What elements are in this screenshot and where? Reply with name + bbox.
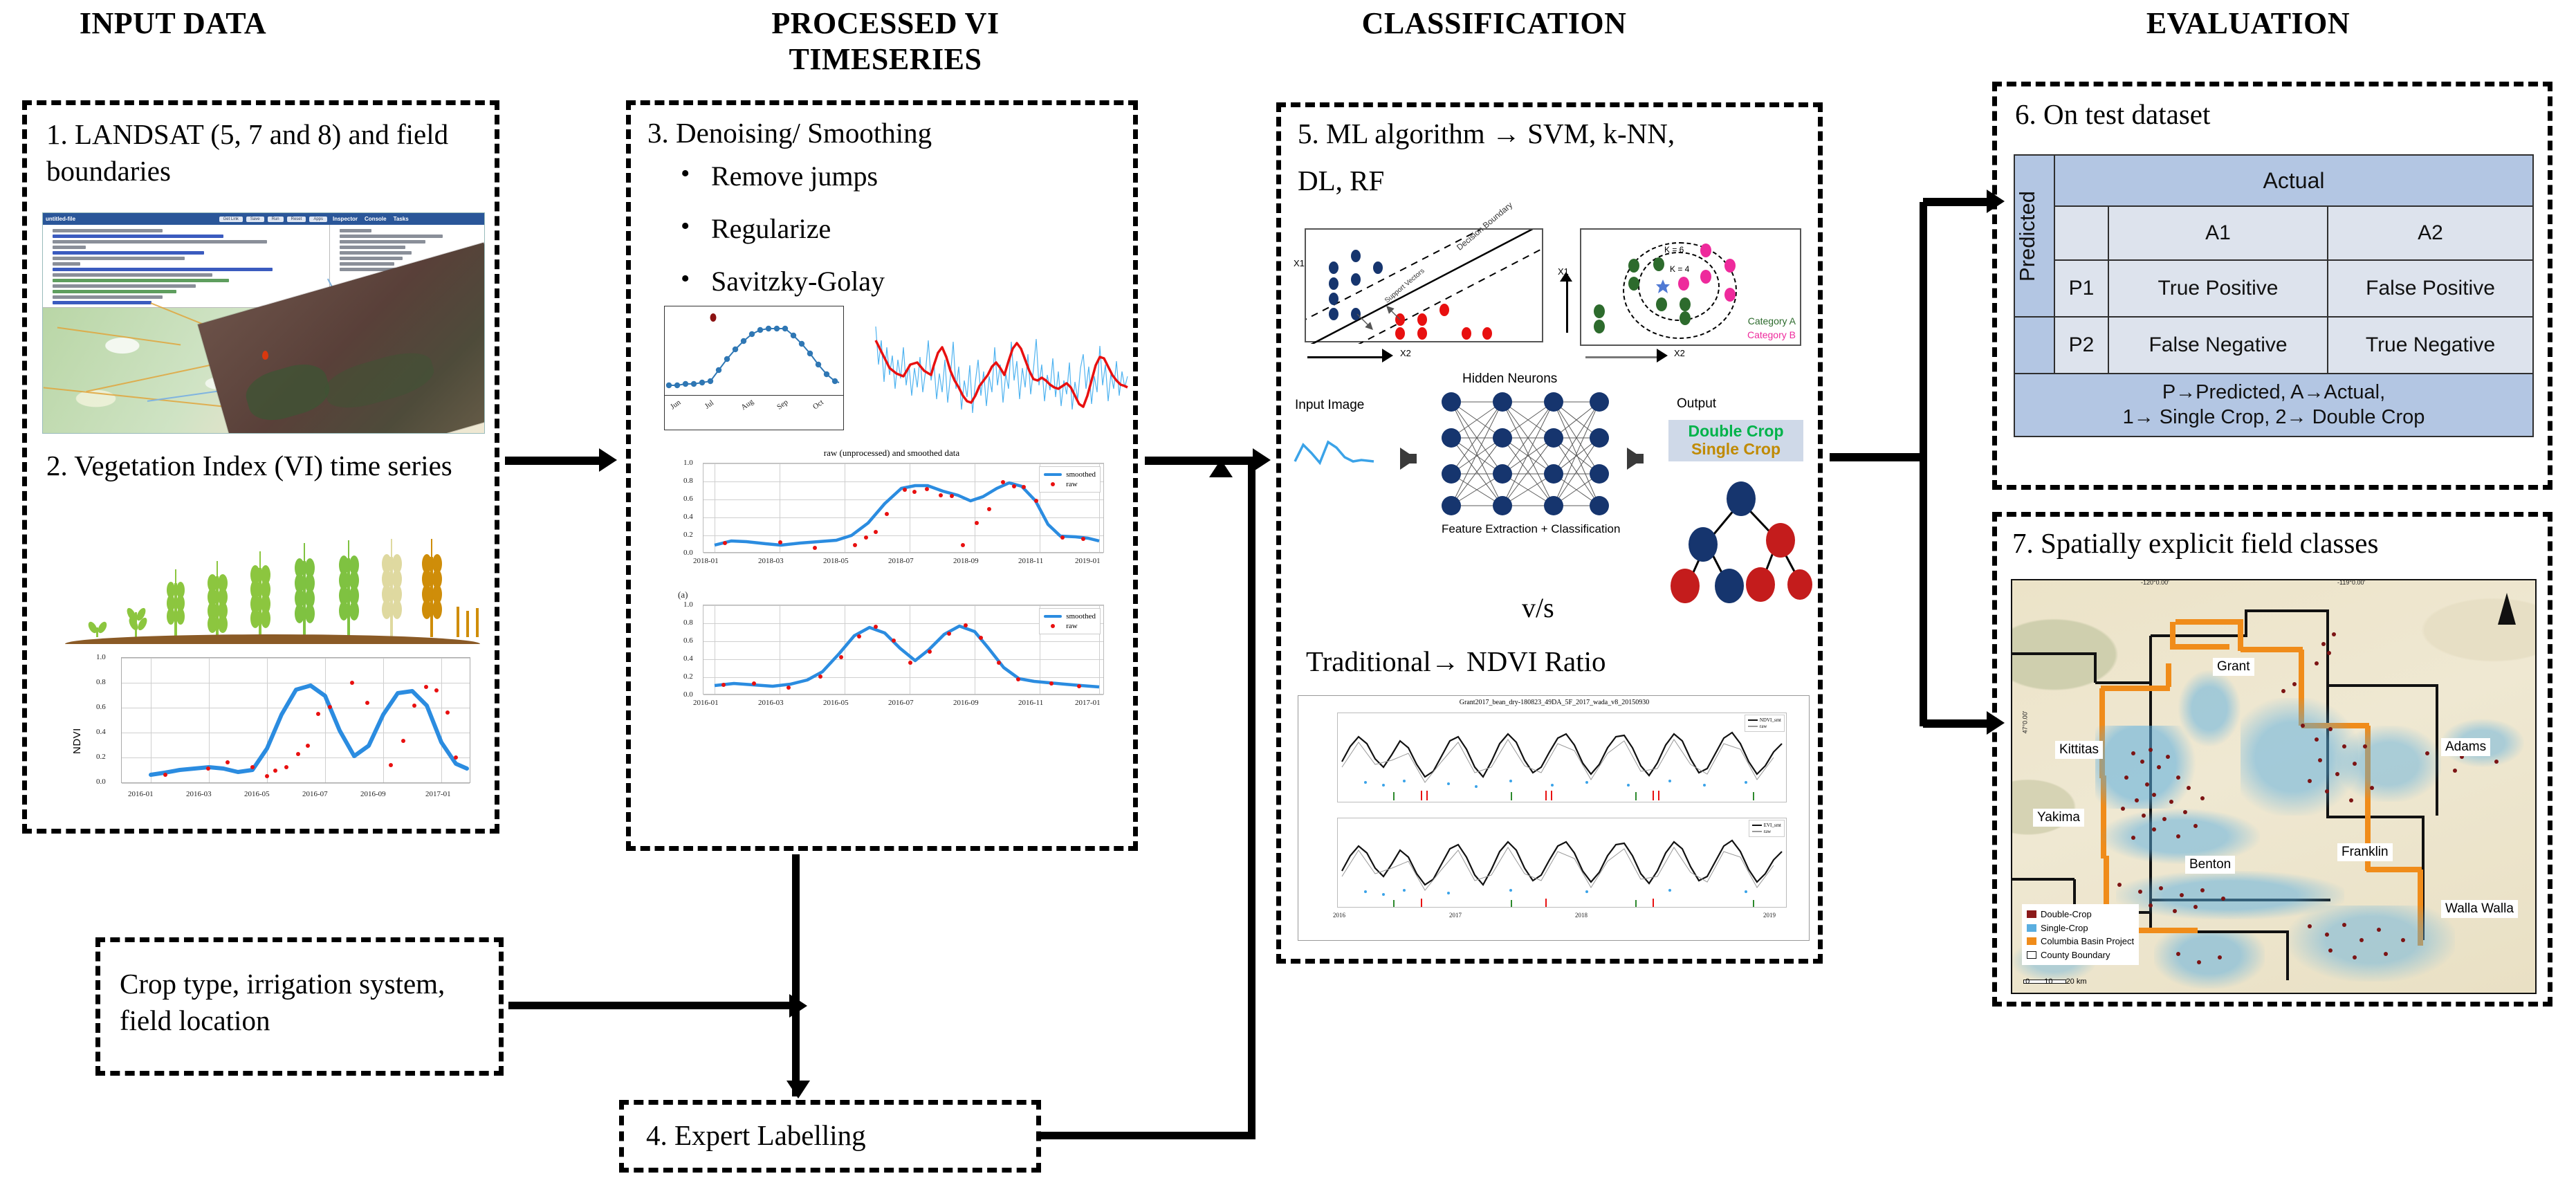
trad-legend-bottom: EVI_smt raw: [1749, 820, 1785, 837]
legend-columbia-basin: Columbia Basin Project: [2041, 935, 2134, 948]
noise-smoothing-chart: [873, 299, 1129, 427]
seasonal-vi-chart: Jun Jul Aug Sep Oct: [664, 306, 844, 430]
c1-xtick: 2018-01: [693, 557, 719, 565]
county-label-benton: Benton: [2185, 856, 2235, 874]
county-label-walla-walla: Walla Walla: [2441, 900, 2518, 918]
nn-arrow-in-icon: [1400, 448, 1417, 470]
ndvi-ytick: 0.6: [96, 703, 106, 711]
knn-legend-category-b: Category B: [1747, 329, 1796, 340]
c2-ytick: 0.0: [683, 690, 693, 699]
cm-cell-true-positive: True Positive: [2108, 260, 2328, 317]
panel-expert-labelling: 4. Expert Labelling: [619, 1100, 1041, 1173]
c1-ytick: 0.6: [683, 495, 693, 503]
c1-ytick: 0.0: [683, 549, 693, 557]
c2-ytick: 0.6: [683, 636, 693, 645]
legend-single-crop: Single-Crop: [2041, 921, 2088, 935]
bullet-regularize: Regularize: [671, 212, 885, 246]
nn-edges-svg: [1439, 391, 1612, 515]
panel-ancillary-data: Crop type, irrigation system, field loca…: [95, 937, 504, 1076]
county-label-adams: Adams: [2441, 738, 2490, 756]
c1-xtick: 2018-09: [953, 557, 979, 565]
arrow-classification-to-application: [1923, 719, 1992, 728]
cm-footer-line-1: P→Predicted, A→Actual,: [2018, 380, 2530, 405]
chart-2-legend: smoothed raw: [1039, 608, 1101, 634]
step-4-label: 4. Expert Labelling: [646, 1117, 866, 1154]
gee-tab-inspector[interactable]: Inspector: [333, 216, 358, 222]
c2-ytick: 0.4: [683, 654, 693, 663]
trad-ndvi-series: [1338, 713, 1787, 803]
traditional-label: Traditional→ NDVI Ratio: [1306, 643, 1606, 680]
raw-vs-smoothed-chart-1: raw (unprocessed) and smoothed data: [660, 448, 1123, 582]
legend-smoothed: smoothed: [1066, 470, 1096, 479]
c1-ytick: 1.0: [683, 459, 693, 467]
legend-double-crop: Double-Crop: [2041, 908, 2092, 921]
map-pin-icon: [262, 351, 268, 360]
arrow-input-to-processed: [505, 457, 602, 465]
c2-xtick: 2016-05: [823, 699, 849, 707]
ndvi-chart-ylabel: NDVI: [71, 728, 83, 754]
section-title-processed-vi: PROCESSED VI TIMESERIES: [706, 6, 1065, 77]
cm-row-label-p1: P1: [2054, 260, 2108, 317]
north-arrow-icon: [2498, 593, 2516, 625]
c2-ytick: 1.0: [683, 600, 693, 609]
c1-ytick: 0.4: [683, 513, 693, 521]
step-1-label: 1. LANDSAT (5, 7 and 8) and field bounda…: [46, 116, 475, 190]
knn-legend-category-a: Category A: [1748, 315, 1796, 327]
output-class-double-crop: Double Crop: [1675, 423, 1796, 441]
trad-xtick: 2018: [1575, 912, 1588, 919]
gee-tab-console[interactable]: Console: [365, 216, 387, 222]
nn-output-label: Output: [1677, 396, 1716, 412]
c2-xtick: 2017-01: [1075, 699, 1101, 707]
svm-plot-svg: [1306, 230, 1545, 344]
ancillary-data-label: Crop type, irrigation system, field loca…: [120, 966, 486, 1040]
ndvi-ytick: 0.8: [96, 678, 106, 686]
legend-smoothed: smoothed: [1066, 612, 1096, 621]
ndvi-ytick: 1.0: [96, 653, 106, 661]
gee-btn-getlink[interactable]: Get Link: [219, 217, 243, 222]
legend-county-boundary: County Boundary: [2041, 948, 2110, 962]
step-5-label-line1: 5. ML algorithm → SVM, k-NN,: [1298, 116, 1675, 152]
legend-raw: raw: [1066, 622, 1078, 630]
svm-xaxis-label: X2: [1400, 348, 1411, 358]
arrow-ancillary-to-expert: [508, 1002, 792, 1009]
ndvi-xtick: 2016-03: [186, 790, 212, 798]
gee-map-view[interactable]: [43, 308, 484, 434]
panel-processed-vi: 3. Denoising/ Smoothing Remove jumps Reg…: [626, 100, 1138, 851]
cm-col-header-a2: A2: [2328, 206, 2533, 260]
step-6-label: 6. On test dataset: [2015, 96, 2210, 133]
decision-tree-svg: [1668, 481, 1814, 612]
arrow-classification-to-evaluation: [1830, 453, 1926, 461]
nn-hidden-layers: [1439, 391, 1612, 515]
map-scale-bar: 0 10 20 km: [2023, 977, 2087, 986]
noisy-signal-plot: [873, 299, 1129, 427]
cm-row-label-p2: P2: [2054, 317, 2108, 374]
panel-input-data: 1. LANDSAT (5, 7 and 8) and field bounda…: [22, 100, 499, 834]
c2-xtick: 2016-11: [1018, 699, 1043, 707]
trad-xtick: 2016: [1333, 912, 1345, 919]
step-7-label: 7. Spatially explicit field classes: [2012, 525, 2378, 562]
nn-output-classes: Double Crop Single Crop: [1668, 420, 1803, 461]
gee-file-title: untitled-file: [46, 216, 75, 222]
cm-col-header-a1: A1: [2108, 206, 2328, 260]
nn-hidden-neurons-label: Hidden Neurons: [1462, 371, 1557, 387]
ndvi-ytick: 0.2: [96, 753, 106, 761]
c1-xtick: 2018-03: [758, 557, 784, 565]
vs-label: v/s: [1522, 591, 1554, 624]
nn-input-image-label: Input Image: [1295, 398, 1364, 413]
c1-xtick: 2018-11: [1018, 557, 1043, 565]
nn-input-signal-icon: [1294, 432, 1377, 474]
county-label-yakima: Yakima: [2033, 809, 2084, 827]
county-label-grant: Grant: [2213, 658, 2254, 676]
c2-ytick: 0.8: [683, 618, 693, 627]
panel-label-a: (a): [678, 589, 688, 600]
nn-caption: Feature Extraction + Classification: [1442, 522, 1620, 536]
c1-ytick: 0.8: [683, 477, 693, 485]
cm-cell-true-negative: True Negative: [2328, 317, 2533, 374]
step-5-label-line2: DL, RF: [1298, 163, 1384, 199]
raw-vs-smoothed-title: raw (unprocessed) and smoothed data: [660, 448, 1123, 459]
panel-classification: 5. ML algorithm → SVM, k-NN, DL, RF: [1276, 102, 1823, 964]
gee-btn-apps[interactable]: Apps: [309, 217, 327, 222]
scale-10: 10: [2044, 977, 2052, 986]
c2-xtick: 2016-09: [953, 699, 979, 707]
gee-btn-save[interactable]: Save: [246, 217, 264, 222]
wheat-stalks-icon: [65, 524, 480, 645]
c2-xtick: 2016-03: [758, 699, 784, 707]
panel-application: 7. Spatially explicit field classes -120…: [1992, 512, 2552, 1007]
scale-0: 0: [2025, 977, 2030, 986]
section-title-classification: CLASSIFICATION: [1294, 6, 1695, 42]
cm-cell-false-positive: False Positive: [2328, 260, 2533, 317]
ndvi-xtick: 2017-01: [425, 790, 451, 798]
knn-diagram: K = 6 K = 4 Category A Category B: [1580, 228, 1801, 346]
nn-arrow-out-icon: [1627, 448, 1644, 470]
ndvi-ytick: 0.4: [96, 728, 106, 736]
county-label-kittitas: Kittitas: [2055, 741, 2103, 759]
gee-screenshot: untitled-file Get Link Save Run Reset Ap…: [42, 212, 485, 434]
chart-1-legend: smoothed raw: [1039, 466, 1101, 493]
ndvi-xtick: 2016-01: [128, 790, 154, 798]
trad-xtick: 2017: [1449, 912, 1462, 919]
cm-cell-false-negative: False Negative: [2108, 317, 2328, 374]
county-label-franklin: Franklin: [2337, 843, 2393, 861]
trad-legend-raw: raw: [1760, 724, 1767, 729]
c2-xtick: 2016-01: [693, 699, 719, 707]
step-3-label: 3. Denoising/ Smoothing: [647, 115, 1125, 151]
ndvi-timeseries-chart: NDVI: [60, 652, 482, 818]
cm-footer-line-2: 1→ Single Crop, 2→ Double Crop: [2018, 405, 2530, 430]
scale-20km: 20 km: [2066, 977, 2087, 986]
gee-tab-tasks[interactable]: Tasks: [394, 216, 409, 222]
legend-raw: raw: [1066, 480, 1078, 488]
trad-legend-raw2: raw: [1764, 829, 1772, 834]
knn-xaxis-label: X2: [1674, 348, 1685, 358]
bullet-savitzky-golay: Savitzky-Golay: [671, 264, 885, 299]
c1-xtick: 2018-05: [823, 557, 849, 565]
map-legend: Double-Crop Single-Crop Columbia Basin P…: [2022, 904, 2139, 965]
svm-diagram: Decision Boundary Support Vectors: [1305, 228, 1543, 342]
arrow-expert-to-classification: [1041, 1132, 1255, 1139]
ndvi-ytick: 0.0: [96, 778, 106, 786]
trad-xtick: 2019: [1763, 912, 1776, 919]
c2-ytick: 0.2: [683, 672, 693, 681]
denoising-steps-list: Remove jumps Regularize Savitzky-Golay: [671, 159, 885, 317]
section-title-evaluation: EVALUATION: [2054, 6, 2442, 42]
gee-btn-run[interactable]: Run: [268, 217, 284, 222]
gee-btn-reset[interactable]: Reset: [287, 217, 306, 222]
decision-tree-diagram: [1668, 481, 1814, 612]
ndvi-xtick: 2016-05: [244, 790, 270, 798]
ndvi-xtick: 2016-09: [360, 790, 386, 798]
ndvi-smoothed-line: [122, 658, 471, 784]
arrow-processed-to-classification: [1145, 457, 1255, 465]
trad-evi-series: [1338, 818, 1787, 908]
traditional-ndvi-chart: Grant2017_bean_dry-180823_49DA_5F_2017_w…: [1298, 695, 1810, 941]
ndvi-xtick: 2016-07: [302, 790, 328, 798]
c1-xtick: 2018-07: [888, 557, 914, 565]
trad-legend-top: NDVI_smt raw: [1745, 715, 1785, 732]
seasonal-vi-line: [665, 309, 843, 406]
c1-xtick: 2019-01: [1075, 557, 1101, 565]
workflow-diagram: INPUT DATA PROCESSED VI TIMESERIES CLASS…: [0, 0, 2576, 1185]
cm-predicted-label: Predicted: [2015, 191, 2040, 282]
step-2-label: 2. Vegetation Index (VI) time series: [46, 448, 461, 484]
panel-evaluation: 6. On test dataset Predicted Actual A1 A…: [1992, 82, 2552, 490]
raw-vs-smoothed-chart-2: (a): [660, 589, 1123, 728]
arrow-eval-branch: [1923, 198, 1992, 206]
crop-growth-illustration: [65, 524, 480, 648]
cm-actual-header: Actual: [2054, 155, 2533, 206]
field-classes-map[interactable]: -120°0.00' -119°0.00' 47°0.00': [2011, 579, 2537, 994]
output-class-single-crop: Single Crop: [1675, 441, 1796, 459]
trad-legend-evi-smt: EVI_smt: [1764, 823, 1781, 828]
trad-chart-title: Grant2017_bean_dry-180823_49DA_5F_2017_w…: [1298, 699, 1810, 706]
gee-code-editor[interactable]: [43, 225, 330, 307]
confusion-matrix-table: Predicted Actual A1 A2 P1 True Positive …: [2014, 154, 2534, 437]
c2-xtick: 2016-07: [888, 699, 914, 707]
trad-legend-ndvi-smt: NDVI_smt: [1760, 717, 1781, 723]
svm-yaxis-label: X1: [1294, 258, 1305, 268]
bullet-remove-jumps: Remove jumps: [671, 159, 885, 194]
section-title-input-data: INPUT DATA: [24, 6, 322, 42]
c1-ytick: 0.2: [683, 531, 693, 539]
arrow-processed-to-expert: [792, 854, 800, 1096]
